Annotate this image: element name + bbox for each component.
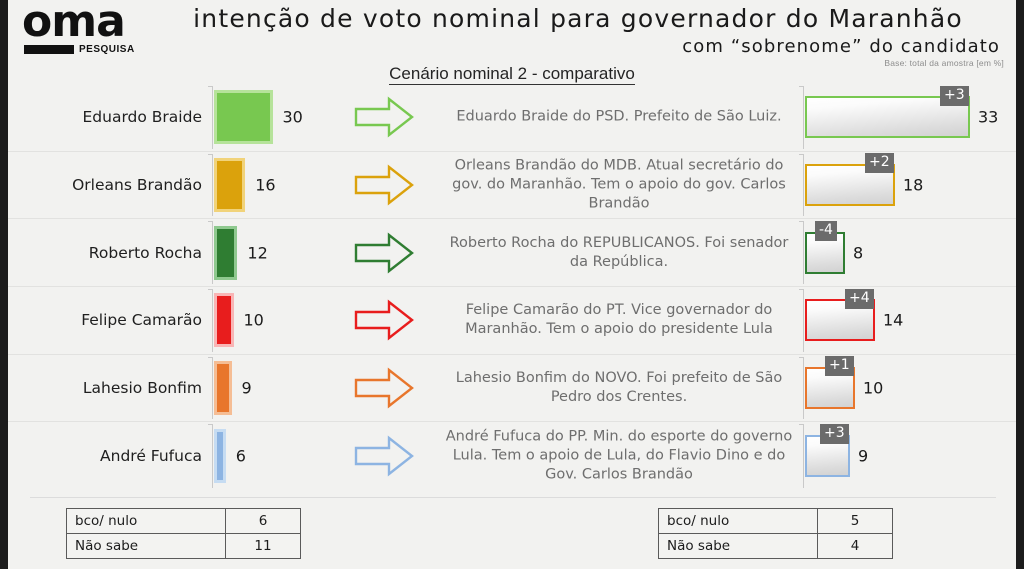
page-title: intenção de voto nominal para governador…: [148, 4, 1008, 33]
delta-badge: +1: [825, 356, 854, 376]
slide-frame: oma PESQUISA intenção de voto nominal pa…: [8, 0, 1016, 569]
candidate-description: Orleans Brandão do MDB. Atual secretário…: [440, 156, 798, 213]
right-axis: [803, 86, 804, 149]
brand-sub-text: PESQUISA: [79, 44, 135, 55]
scenario-title-text: Cenário nominal 2 - comparativo: [389, 64, 635, 85]
left-bar-value: 6: [236, 447, 246, 466]
table-row: Não sabe11: [67, 534, 301, 559]
left-bar-value: 10: [244, 311, 264, 330]
left-axis: [212, 86, 213, 149]
left-bar: [214, 158, 245, 212]
candidate-name: Orleans Brandão: [32, 176, 202, 194]
candidate-row: André Fufuca6André Fufuca do PP. Min. do…: [8, 422, 1016, 490]
left-axis: [212, 221, 213, 284]
candidate-description: Eduardo Braide do PSD. Prefeito de São L…: [440, 108, 798, 127]
right-axis: [803, 154, 804, 217]
candidate-description: André Fufuca do PP. Min. do esporte do g…: [440, 427, 798, 484]
left-bar-value: 30: [283, 108, 303, 127]
table-cell-label: Não sabe: [67, 534, 226, 559]
candidate-description: Felipe Camarão do PT. Vice governador do…: [440, 301, 798, 339]
table-row: Não sabe4: [659, 534, 893, 559]
left-bar-fill: [217, 161, 242, 209]
right-bar-value: 14: [883, 311, 903, 330]
right-axis: [803, 289, 804, 352]
table-row: bco/ nulo6: [67, 509, 301, 534]
left-axis: [212, 289, 213, 352]
candidate-name: Lahesio Bonfim: [32, 379, 202, 397]
brand-subline: PESQUISA: [24, 44, 135, 55]
delta-badge: +4: [845, 289, 874, 309]
brand-bar-icon: [24, 45, 74, 54]
candidate-name: Felipe Camarão: [32, 311, 202, 329]
table-cell-label: Não sabe: [659, 534, 818, 559]
table-right-scenario: bco/ nulo5Não sabe4: [658, 508, 893, 559]
left-bar-fill: [217, 93, 270, 141]
left-bar-fill: [217, 364, 229, 412]
left-bar: [214, 361, 232, 415]
candidate-name: Eduardo Braide: [32, 108, 202, 126]
left-bar-value: 12: [247, 243, 267, 262]
table-cell-value: 6: [226, 509, 301, 534]
candidate-description: Roberto Rocha do REPUBLICANOS. Foi senad…: [440, 234, 798, 272]
trend-arrow-icon: [353, 299, 415, 341]
left-bar: [214, 226, 237, 280]
trend-arrow-icon: [353, 367, 415, 409]
page-subtitle: com “sobrenome” do candidato: [148, 36, 1008, 57]
delta-badge: -4: [815, 221, 837, 241]
left-axis: [212, 154, 213, 217]
candidate-row: Orleans Brandão16Orleans Brandão do MDB.…: [8, 152, 1016, 220]
candidate-row: Eduardo Braide30Eduardo Braide do PSD. P…: [8, 84, 1016, 152]
table-cell-value: 4: [818, 534, 893, 559]
left-bar-value: 9: [242, 378, 252, 397]
trend-arrow-icon: [353, 96, 415, 138]
delta-badge: +3: [820, 424, 849, 444]
right-bar-value: 10: [863, 378, 883, 397]
candidate-name: Roberto Rocha: [32, 244, 202, 262]
trend-arrow-icon: [353, 435, 415, 477]
table-cell-value: 5: [818, 509, 893, 534]
candidate-row: Roberto Rocha12Roberto Rocha do REPUBLIC…: [8, 219, 1016, 287]
scenario-title: Cenário nominal 2 - comparativo: [8, 64, 1016, 84]
candidate-name: André Fufuca: [32, 447, 202, 465]
left-bar-value: 16: [255, 175, 275, 194]
left-bar: [214, 429, 226, 483]
left-bar-fill: [217, 296, 231, 344]
right-axis: [803, 424, 804, 488]
brand-logo: oma PESQUISA: [22, 2, 144, 58]
candidate-row: Lahesio Bonfim9Lahesio Bonfim do NOVO. F…: [8, 355, 1016, 423]
bottom-divider: [30, 497, 996, 498]
right-axis: [803, 357, 804, 420]
left-bar-fill: [217, 229, 234, 277]
table-cell-label: bco/ nulo: [659, 509, 818, 534]
candidate-row: Felipe Camarão10Felipe Camarão do PT. Vi…: [8, 287, 1016, 355]
left-bar-fill: [217, 432, 223, 480]
left-axis: [212, 424, 213, 488]
right-bar-value: 33: [978, 108, 998, 127]
candidate-description: Lahesio Bonfim do NOVO. Foi prefeito de …: [440, 369, 798, 407]
table-cell-value: 11: [226, 534, 301, 559]
right-bar-value: 18: [903, 175, 923, 194]
slide-header: oma PESQUISA intenção de voto nominal pa…: [8, 0, 1016, 62]
right-axis: [803, 221, 804, 284]
delta-badge: +3: [940, 86, 969, 106]
table-cell-label: bco/ nulo: [67, 509, 226, 534]
trend-arrow-icon: [353, 232, 415, 274]
left-bar: [214, 293, 234, 347]
brand-wordmark: oma: [22, 2, 144, 42]
left-bar: [214, 90, 273, 144]
trend-arrow-icon: [353, 164, 415, 206]
left-axis: [212, 357, 213, 420]
right-bar-value: 9: [858, 447, 868, 466]
right-bar-value: 8: [853, 243, 863, 262]
delta-badge: +2: [865, 153, 894, 173]
table-row: bco/ nulo5: [659, 509, 893, 534]
comparison-chart: Eduardo Braide30Eduardo Braide do PSD. P…: [8, 84, 1016, 490]
table-left-scenario: bco/ nulo6Não sabe11: [66, 508, 301, 559]
